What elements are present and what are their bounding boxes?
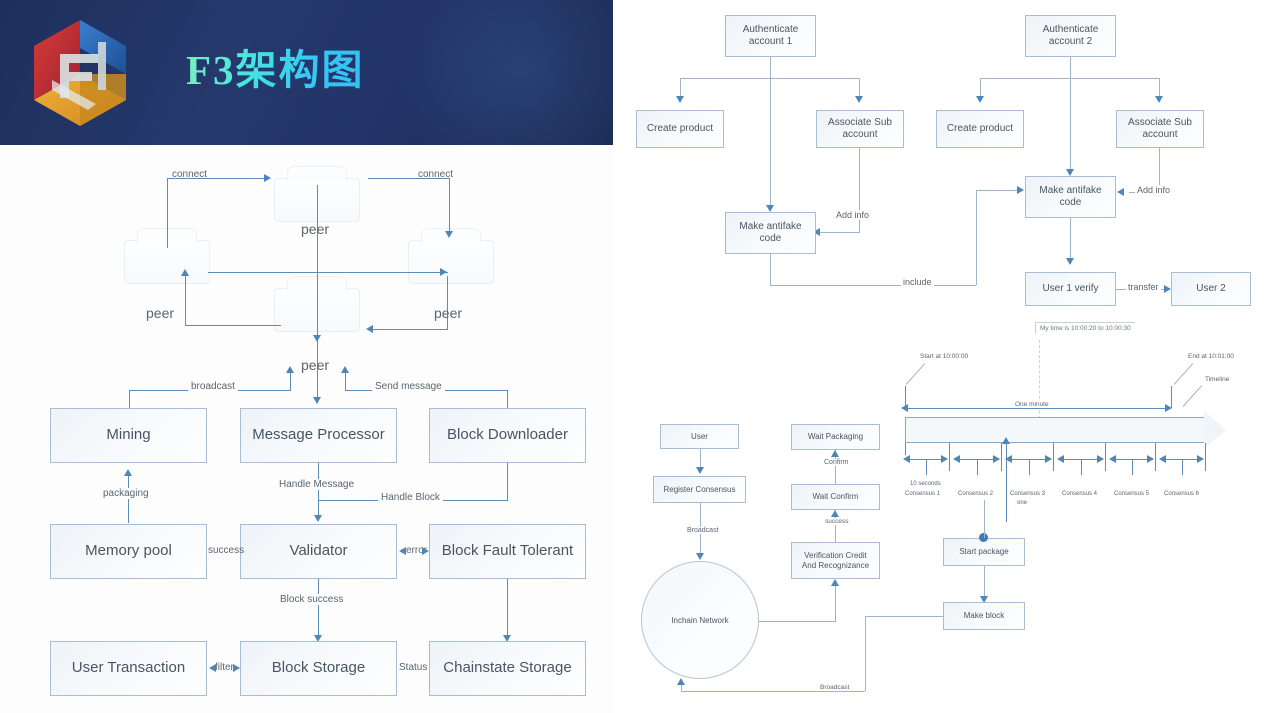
include-arrow bbox=[1017, 186, 1024, 194]
box-chainstate-storage[interactable]: Chainstate Storage bbox=[429, 641, 586, 696]
node-user-2[interactable]: User 2 bbox=[1171, 272, 1251, 306]
network-to-verification-arrow bbox=[831, 579, 839, 586]
box-block-downloader[interactable]: Block Downloader bbox=[429, 408, 586, 463]
filter-label: filter bbox=[215, 662, 234, 673]
seg-bound-1 bbox=[949, 443, 950, 471]
connect-left-arrow bbox=[264, 174, 271, 182]
box-validator-label: Validator bbox=[289, 542, 347, 561]
connect-right-arrow bbox=[445, 231, 453, 238]
status-label: Status bbox=[399, 662, 427, 673]
authenticate-account-2-line2: account 2 bbox=[1049, 36, 1092, 49]
start-leader-line bbox=[906, 363, 925, 384]
seg-mid-6 bbox=[1182, 459, 1183, 475]
add-info-2-label: Add info bbox=[1135, 185, 1172, 195]
transfer-arrow bbox=[1164, 285, 1171, 293]
include-label: include bbox=[901, 277, 934, 287]
connect-right-vline bbox=[449, 178, 450, 236]
timeline-bar-arrowhead bbox=[1204, 411, 1226, 449]
authenticate-account-1-line1: Authenticate bbox=[743, 24, 799, 37]
peer-cross-arrow-right bbox=[440, 268, 447, 276]
seg-arrow-r-3 bbox=[1045, 455, 1052, 463]
auth1-arrow-associate-sub bbox=[855, 96, 863, 103]
node-associate-sub-account-2[interactable]: Associate Sub account bbox=[1116, 110, 1204, 148]
success-consensus-label: success bbox=[823, 518, 850, 525]
auth1-spine bbox=[770, 57, 771, 211]
user-to-register-arrow bbox=[696, 467, 704, 474]
block-success-line bbox=[318, 579, 319, 639]
block-success-label: Block success bbox=[277, 594, 346, 605]
right-diagrams-panel: Authenticate account 1 Create product As… bbox=[613, 0, 1267, 713]
node-make-antifake-code-1[interactable]: Make antifake code bbox=[725, 212, 816, 254]
seg-mid-4 bbox=[1081, 459, 1082, 475]
packaging-arrow bbox=[124, 469, 132, 476]
box-chainstate-storage-label: Chainstate Storage bbox=[443, 659, 571, 678]
box-message-processor-label: Message Processor bbox=[252, 426, 385, 445]
connect-left-label: connect bbox=[172, 169, 207, 180]
verification-line1: Verification Credit bbox=[804, 551, 867, 561]
timeline-to-start-package-line bbox=[984, 500, 985, 538]
filter-arrow-right bbox=[233, 664, 240, 672]
make-antifake-2-line2: code bbox=[1060, 197, 1082, 210]
confirm-label: Confirm bbox=[822, 459, 851, 466]
peer-node-right bbox=[408, 240, 494, 284]
box-block-downloader-label: Block Downloader bbox=[447, 426, 568, 445]
network-to-verification-hline bbox=[759, 621, 836, 622]
end-leader-line bbox=[1174, 363, 1193, 384]
seg-bound-4 bbox=[1105, 443, 1106, 471]
peer-cross-line bbox=[208, 272, 448, 273]
timeline-axis-label: Timeline bbox=[1205, 376, 1229, 383]
node-make-block[interactable]: Make block bbox=[943, 602, 1025, 630]
seg-arrow-r-6 bbox=[1197, 455, 1204, 463]
peer-spine-arrow-2 bbox=[313, 397, 321, 404]
send-message-vline-left bbox=[345, 372, 346, 391]
box-message-processor[interactable]: Message Processor bbox=[240, 408, 397, 463]
broadcast-bottom-arrow bbox=[677, 678, 685, 685]
success-label: success bbox=[208, 545, 244, 556]
seg-arrow-l-4 bbox=[1057, 455, 1064, 463]
success-arrow bbox=[831, 510, 839, 517]
seg-arrow-l-1 bbox=[903, 455, 910, 463]
broadcast-down-label: Broadcast bbox=[685, 527, 721, 534]
page-title: F3架构图 bbox=[186, 36, 365, 96]
node-start-package[interactable]: Start package bbox=[943, 538, 1025, 566]
include-to-antifake2 bbox=[976, 190, 1022, 191]
peer-right-vline bbox=[447, 276, 448, 329]
user-1-verify-label: User 1 verify bbox=[1042, 283, 1098, 296]
handle-message-label: Handle Message bbox=[276, 479, 357, 490]
seg-arrow-r-1 bbox=[941, 455, 948, 463]
one-minute-span-line bbox=[905, 408, 1171, 409]
seg-bound-6 bbox=[1205, 443, 1206, 471]
timeline-callout-leader bbox=[1039, 340, 1040, 424]
broadcast-vline-right bbox=[290, 372, 291, 391]
broadcast-label: broadcast bbox=[188, 381, 238, 392]
broadcast-arrow bbox=[286, 366, 294, 373]
make-block-in-vline bbox=[865, 616, 866, 691]
user-2-label: User 2 bbox=[1196, 283, 1225, 296]
register-to-network-arrow bbox=[696, 553, 704, 560]
make-block-in-hline bbox=[865, 616, 944, 617]
node-wait-confirm[interactable]: Wait Confirm bbox=[791, 484, 880, 510]
segment-3-sub-label: one bbox=[1017, 500, 1027, 506]
timeline-callout: My time is 10:00:20 to 10:00:30 bbox=[1035, 322, 1135, 334]
include-vline-left bbox=[770, 254, 771, 285]
broadcast-bottom-label: Broadcast bbox=[818, 684, 851, 691]
auth2-arrow-associate-sub bbox=[1155, 96, 1163, 103]
seg-bound-3 bbox=[1053, 443, 1054, 471]
node-user[interactable]: User bbox=[660, 424, 739, 449]
wait-confirm-label: Wait Confirm bbox=[813, 492, 859, 502]
transfer-label: transfer bbox=[1126, 282, 1161, 292]
consensus3-pointer-arrow bbox=[1002, 437, 1010, 444]
create-product-1-label: Create product bbox=[647, 123, 713, 136]
auth2-arrow-make-antifake bbox=[1066, 169, 1074, 176]
packaging-line bbox=[128, 475, 129, 523]
connect-right-label: connect bbox=[418, 169, 453, 180]
one-minute-label: One minute bbox=[1013, 401, 1051, 408]
span-tick-start bbox=[905, 386, 906, 408]
handle-message-line bbox=[318, 463, 319, 519]
peer-right-hline bbox=[372, 329, 448, 330]
slide-canvas: F3架构图 connect connect bbox=[0, 0, 1267, 713]
timeline-start-label: Start at 10:00:00 bbox=[920, 353, 968, 360]
peer-label-bottom: peer bbox=[301, 357, 329, 373]
peer-label-left: peer bbox=[146, 305, 174, 321]
box-mining[interactable]: Mining bbox=[50, 408, 207, 463]
segment-label-6: Consensus 6 bbox=[1164, 491, 1199, 497]
associate-sub-1-line2: account bbox=[842, 129, 877, 142]
broadcast-bottom-vline bbox=[681, 684, 682, 692]
node-architecture-diagram: connect connect peer peer peer peer broa… bbox=[0, 145, 613, 713]
confirm-arrow bbox=[831, 450, 839, 457]
box-block-fault-tolerant[interactable]: Block Fault Tolerant bbox=[429, 524, 586, 579]
segment-label-2: Consensus 2 bbox=[958, 491, 993, 497]
add-info-1-hline bbox=[819, 232, 860, 233]
bft-down-line bbox=[507, 579, 508, 639]
span-tick-end bbox=[1171, 386, 1172, 408]
make-block-label: Make block bbox=[964, 611, 1004, 621]
segment-label-3: Consensus 3 bbox=[1010, 491, 1045, 497]
node-create-product-1[interactable]: Create product bbox=[636, 110, 724, 148]
peer-label-top: peer bbox=[301, 221, 329, 237]
interval-label: 10 seconds bbox=[910, 481, 941, 487]
segment-label-4: Consensus 4 bbox=[1062, 491, 1097, 497]
timeline-leader-line bbox=[1183, 385, 1202, 406]
handle-block-vline bbox=[507, 463, 508, 500]
peer-right-arrow bbox=[366, 325, 373, 333]
seg-arrow-r-2 bbox=[993, 455, 1000, 463]
add-info-1-label: Add info bbox=[834, 210, 871, 220]
f3-cube-logo-icon bbox=[26, 14, 134, 132]
auth1-branch-hline bbox=[680, 78, 860, 79]
node-register-consensus[interactable]: Register Consensus bbox=[653, 476, 746, 503]
node-wait-packaging[interactable]: Wait Packaging bbox=[791, 424, 880, 450]
add-info-2-arrow bbox=[1117, 188, 1124, 196]
box-validator[interactable]: Validator bbox=[240, 524, 397, 579]
auth1-arrow-make-antifake bbox=[766, 205, 774, 212]
node-create-product-2[interactable]: Create product bbox=[936, 110, 1024, 148]
associate-sub-2-line1: Associate Sub bbox=[1128, 117, 1192, 130]
auth2-spine bbox=[1070, 57, 1071, 175]
verification-line2: And Recognizance bbox=[802, 561, 869, 571]
segment-label-1: Consensus 1 bbox=[905, 491, 940, 497]
box-memory-pool[interactable]: Memory pool bbox=[50, 524, 207, 579]
seg-arrow-r-4 bbox=[1097, 455, 1104, 463]
include-hline bbox=[770, 285, 976, 286]
start-package-label: Start package bbox=[959, 547, 1008, 557]
associate-sub-1-line1: Associate Sub bbox=[828, 117, 892, 130]
send-message-vline-right bbox=[507, 390, 508, 408]
box-user-transaction-label: User Transaction bbox=[72, 659, 185, 678]
peer-label-right: peer bbox=[434, 305, 462, 321]
handle-block-label: Handle Block bbox=[378, 492, 443, 503]
wait-packaging-label: Wait Packaging bbox=[808, 432, 863, 442]
node-inchain-network[interactable]: Inchain Network bbox=[641, 561, 759, 679]
box-block-fault-tolerant-label: Block Fault Tolerant bbox=[442, 542, 573, 561]
register-consensus-label: Register Consensus bbox=[663, 485, 735, 495]
send-message-label: Send message bbox=[372, 381, 445, 392]
packaging-label: packaging bbox=[100, 488, 152, 499]
seg-bound-2 bbox=[1001, 443, 1002, 471]
segment-label-5: Consensus 5 bbox=[1114, 491, 1149, 497]
auth2-branch-hline bbox=[980, 78, 1160, 79]
node-verification-credit[interactable]: Verification Credit And Recognizance bbox=[791, 542, 880, 579]
network-to-verification-vline bbox=[835, 585, 836, 621]
seg-arrow-l-6 bbox=[1159, 455, 1166, 463]
seg-arrow-r-5 bbox=[1147, 455, 1154, 463]
authenticate-account-1-line2: account 1 bbox=[749, 36, 792, 49]
node-authenticate-account-2[interactable]: Authenticate account 2 bbox=[1025, 15, 1116, 57]
seg-mid-2 bbox=[977, 459, 978, 475]
authenticate-account-2-line1: Authenticate bbox=[1043, 24, 1099, 37]
peer-left-arrow bbox=[181, 269, 189, 276]
peer-left-hline bbox=[185, 325, 281, 326]
broadcast-vline-left bbox=[129, 390, 130, 408]
user-label: User bbox=[691, 432, 708, 442]
make-antifake-2-line1: Make antifake bbox=[1039, 185, 1101, 198]
broadcast-bottom-hline bbox=[681, 691, 865, 692]
error-arrow-left bbox=[399, 547, 406, 555]
timeline-bar bbox=[905, 417, 1205, 443]
node-associate-sub-account-1[interactable]: Associate Sub account bbox=[816, 110, 904, 148]
box-memory-pool-label: Memory pool bbox=[85, 542, 172, 561]
make-antifake-1-line1: Make antifake bbox=[739, 221, 801, 234]
node-user-1-verify[interactable]: User 1 verify bbox=[1025, 272, 1116, 306]
seg-mid-5 bbox=[1132, 459, 1133, 475]
slide-header: F3架构图 bbox=[0, 0, 613, 145]
associate-sub-2-line2: account bbox=[1142, 129, 1177, 142]
seg-tick-0 bbox=[905, 443, 906, 455]
timeline-end-label: End at 10:01:00 bbox=[1188, 353, 1234, 360]
box-mining-label: Mining bbox=[106, 426, 150, 445]
error-arrow-right bbox=[422, 547, 429, 555]
peer-spine-line bbox=[317, 185, 318, 341]
box-user-transaction[interactable]: User Transaction bbox=[50, 641, 207, 696]
make-antifake-1-line2: code bbox=[760, 233, 782, 246]
send-message-arrow bbox=[341, 366, 349, 373]
node-authenticate-account-1[interactable]: Authenticate account 1 bbox=[725, 15, 816, 57]
peer-left-vline bbox=[185, 276, 186, 325]
include-vline-right bbox=[976, 190, 977, 285]
handle-message-arrow bbox=[314, 515, 322, 522]
auth1-arrow-create-product bbox=[676, 96, 684, 103]
antifake2-to-verify-arrow bbox=[1066, 258, 1074, 265]
auth2-arrow-create-product bbox=[976, 96, 984, 103]
box-block-storage-label: Block Storage bbox=[272, 659, 365, 678]
consensus3-pointer-line bbox=[1006, 444, 1007, 522]
node-make-antifake-code-2[interactable]: Make antifake code bbox=[1025, 176, 1116, 218]
connect-left-vline bbox=[167, 178, 168, 248]
seg-arrow-l-2 bbox=[953, 455, 960, 463]
inchain-network-label: Inchain Network bbox=[671, 616, 728, 625]
seg-bound-5 bbox=[1155, 443, 1156, 471]
create-product-2-label: Create product bbox=[947, 123, 1013, 136]
seg-mid-1 bbox=[926, 459, 927, 475]
seg-arrow-l-5 bbox=[1109, 455, 1116, 463]
seg-mid-3 bbox=[1029, 459, 1030, 475]
box-block-storage[interactable]: Block Storage bbox=[240, 641, 397, 696]
